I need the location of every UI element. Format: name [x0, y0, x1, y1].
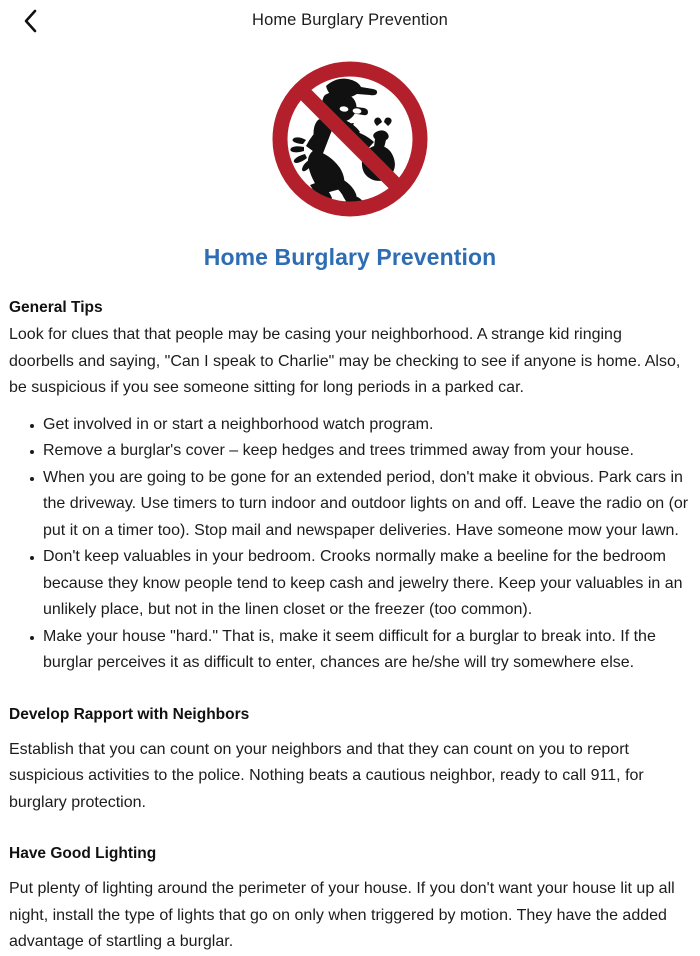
back-button[interactable]	[14, 6, 48, 36]
section-heading: Have Good Lighting	[9, 844, 690, 864]
list-item: Remove a burglar's cover – keep hedges a…	[9, 438, 690, 465]
section-have-good-lighting: Have Good Lighting Put plenty of lightin…	[9, 844, 690, 956]
list-item: Make your house "hard." That is, make it…	[9, 624, 690, 677]
list-item: Get involved in or start a neighborhood …	[9, 412, 690, 439]
section-heading: General Tips	[9, 298, 690, 318]
list-item: Don't keep valuables in your bedroom. Cr…	[9, 544, 690, 624]
section-paragraph: Look for clues that that people may be c…	[9, 322, 690, 402]
section-heading: Develop Rapport with Neighbors	[9, 705, 690, 725]
chevron-left-icon	[23, 8, 39, 34]
article-heading: Home Burglary Prevention	[0, 244, 700, 271]
article-content: General Tips Look for clues that that pe…	[0, 298, 700, 956]
no-burglary-icon	[262, 54, 438, 224]
section-develop-rapport-with-neighbors: Develop Rapport with Neighbors Establish…	[9, 705, 690, 817]
section-general-tips: General Tips Look for clues that that pe…	[9, 298, 690, 677]
top-navigation-bar: Home Burglary Prevention	[0, 0, 700, 40]
tips-list: Get involved in or start a neighborhood …	[9, 412, 690, 677]
list-item: When you are going to be gone for an ext…	[9, 465, 690, 545]
hero-image	[0, 54, 700, 224]
section-paragraph: Put plenty of lighting around the perime…	[9, 876, 690, 956]
page-title: Home Burglary Prevention	[252, 11, 448, 30]
section-paragraph: Establish that you can count on your nei…	[9, 737, 690, 817]
